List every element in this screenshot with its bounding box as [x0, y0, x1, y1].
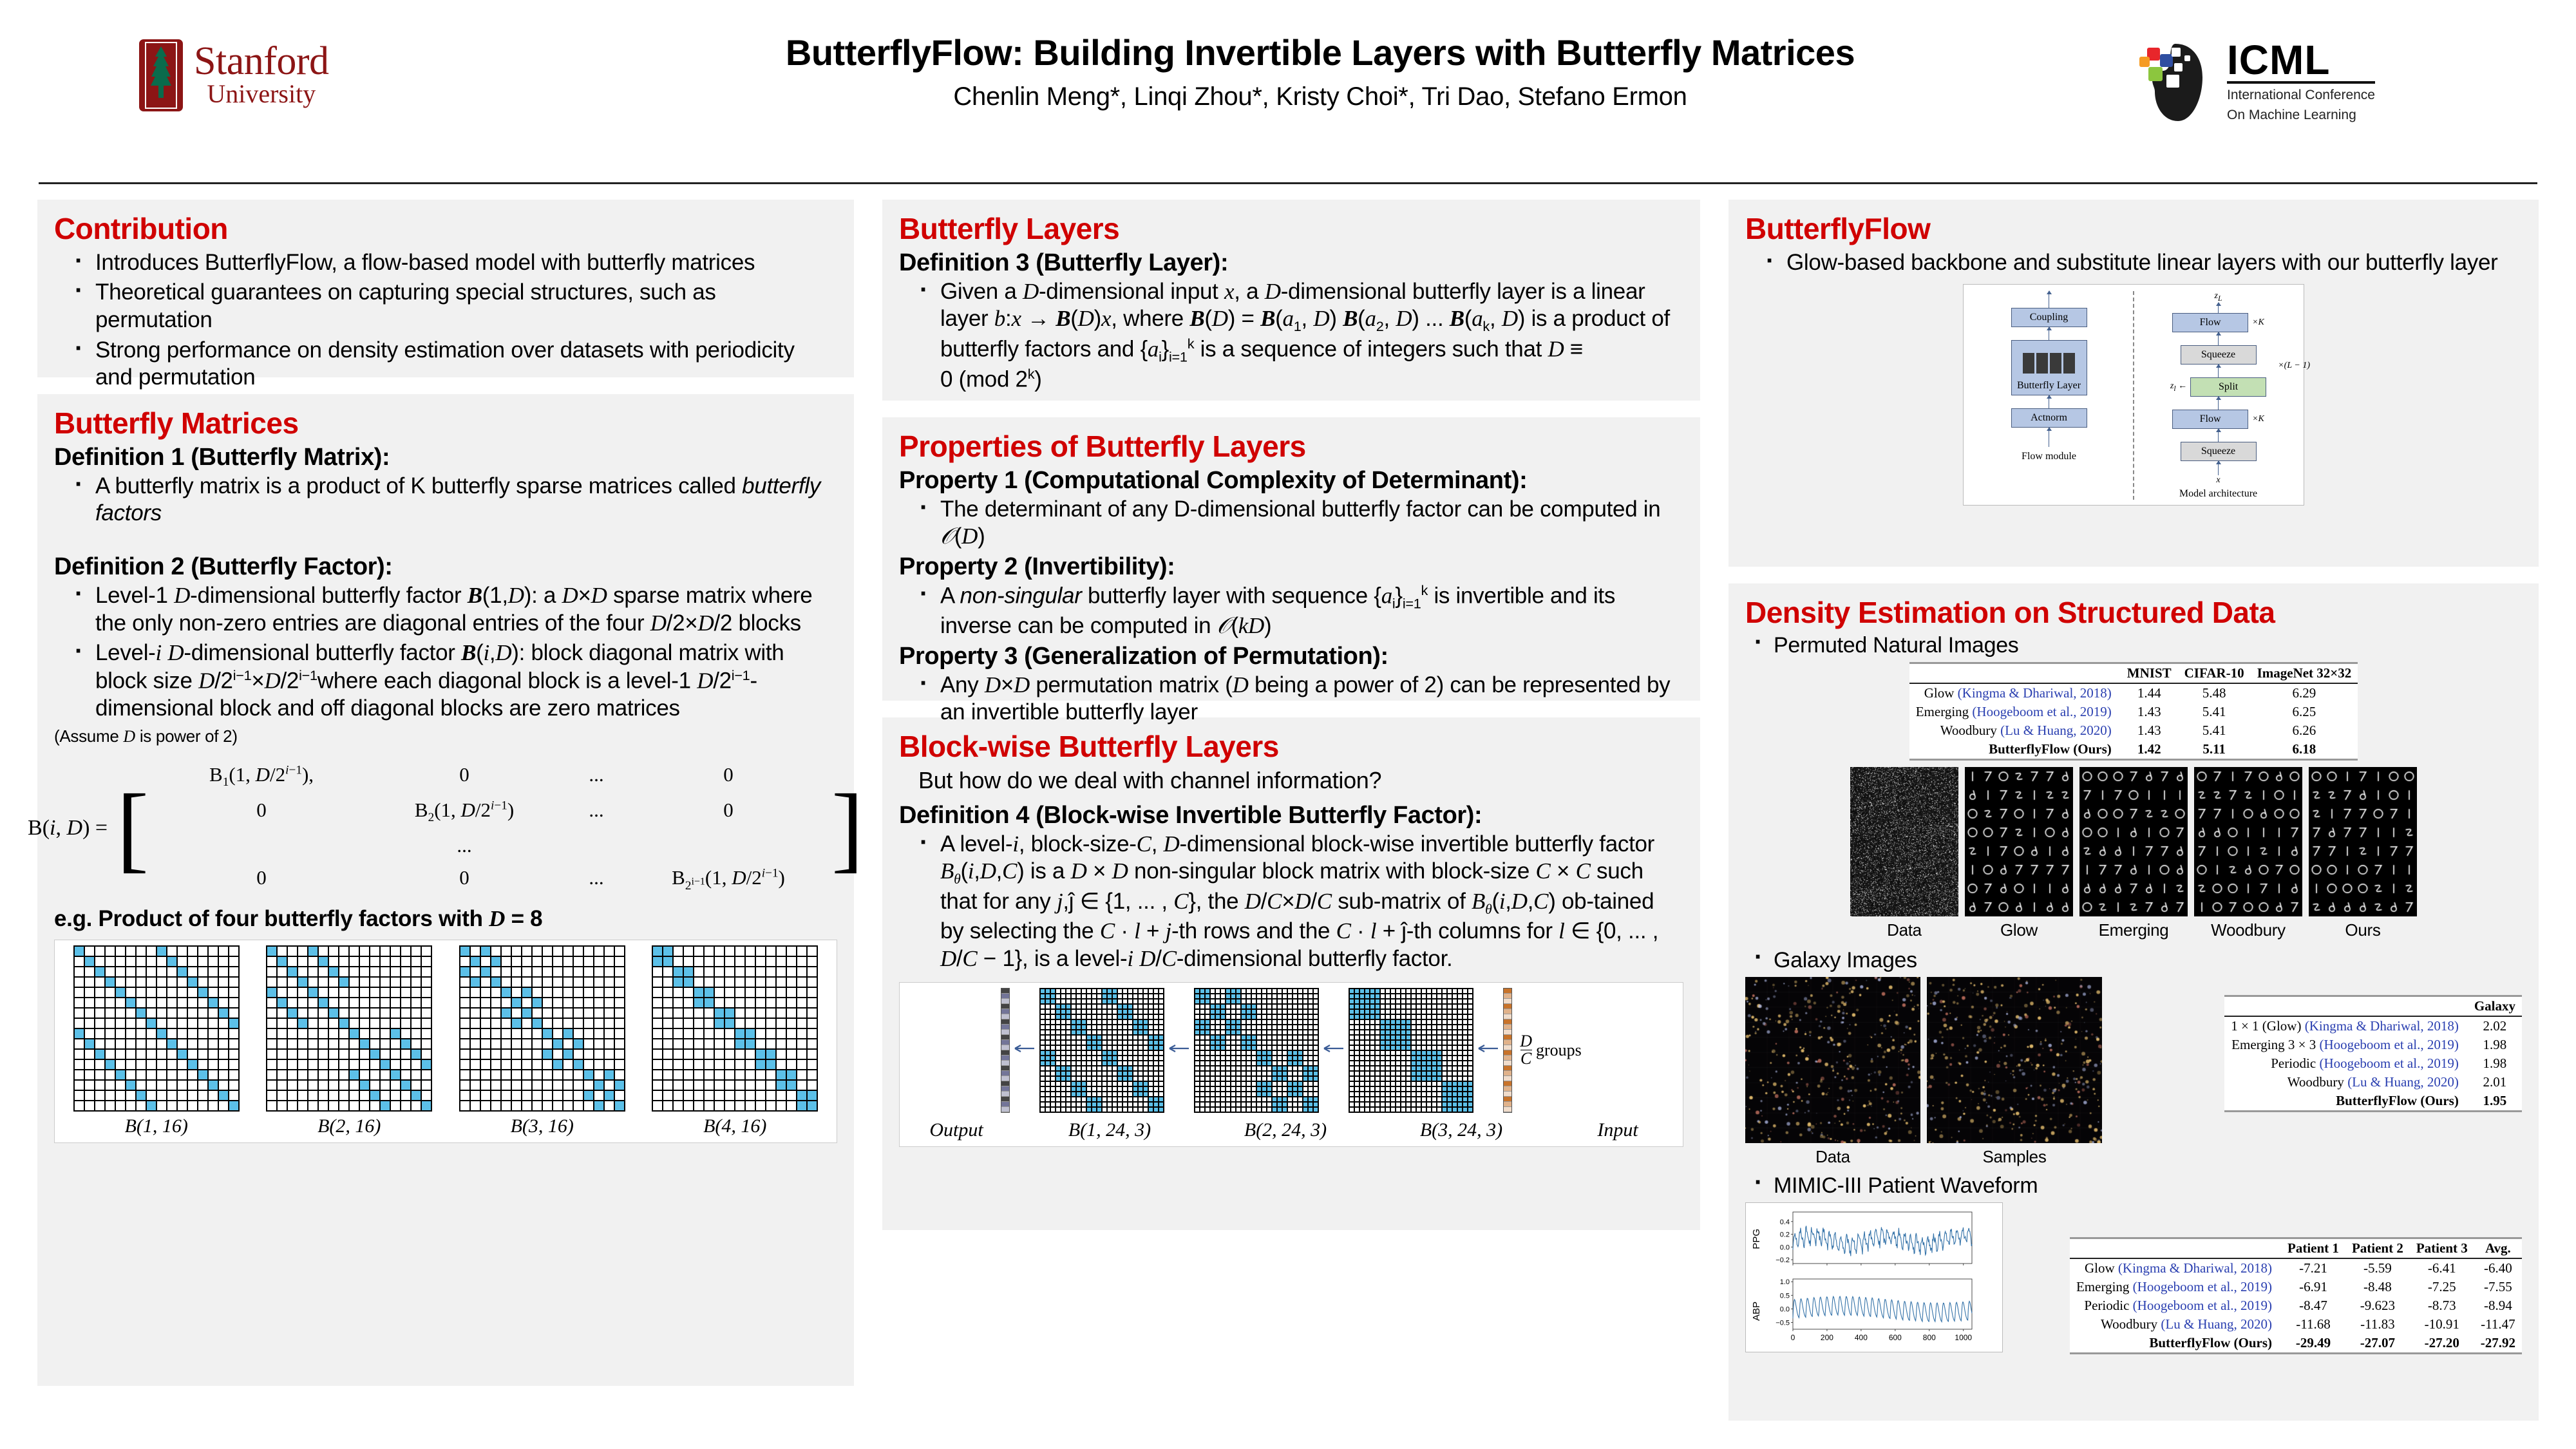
matrix-cell: [287, 946, 298, 956]
matrix-cell: [1045, 1097, 1050, 1102]
matrix-cell: [1061, 1030, 1066, 1035]
matrix-cell: [614, 1008, 625, 1018]
matrix-cell: [198, 1070, 208, 1080]
matrix-cell: [84, 956, 95, 967]
matrix-cell: [1432, 989, 1437, 994]
matrix-cell: [318, 998, 328, 1008]
matrix-cell: [298, 1080, 308, 1090]
matrix-cell: [1210, 1056, 1215, 1061]
matrix-cell: [1354, 1014, 1359, 1019]
matrix-cell: [1081, 1102, 1086, 1107]
matrix-cell: [1148, 1035, 1153, 1040]
matrix-cell: [1401, 1050, 1406, 1056]
matrix-cell: [1421, 1102, 1426, 1107]
matrix-cell: [652, 977, 663, 987]
matrix-cell: [1282, 1004, 1287, 1009]
definition-4-bullets: A level-i, block-size-C, D-dimensional b…: [911, 831, 1683, 973]
matrix-cell: [542, 1039, 553, 1049]
matrix-cell: [1066, 1030, 1071, 1035]
matrix-cell: [339, 1018, 349, 1028]
matrix-cell: [1200, 1081, 1205, 1086]
matrix-cell: [1056, 1014, 1061, 1019]
matrix-cell: [1092, 1071, 1097, 1076]
matrix-cell: [460, 1070, 470, 1080]
matrix-cell: [208, 967, 218, 977]
matrix-cell: [308, 946, 318, 956]
matrix-cell: [1159, 994, 1164, 999]
matrix-cell: [1143, 1066, 1148, 1071]
matrix-cell: [694, 1059, 704, 1070]
matrix-cell: [1159, 1050, 1164, 1056]
matrix-cell: [1133, 1014, 1138, 1019]
matrix-cell: [673, 1070, 683, 1080]
matrix-cell: [1293, 1076, 1298, 1081]
matrix-cell: [1246, 1066, 1251, 1071]
matrix-cell: [1210, 1097, 1215, 1102]
matrix-cell: [1236, 1076, 1241, 1081]
matrix-cell: [1205, 1102, 1210, 1107]
matrix-cell: [1287, 999, 1293, 1004]
matrix-cell: [583, 1090, 594, 1101]
matrix-cell: [797, 956, 807, 967]
matrix-cell: [673, 1080, 683, 1090]
matrix-cell: [229, 1039, 239, 1049]
matrix-cell: [1416, 1092, 1421, 1097]
matrix-cell: [318, 1008, 328, 1018]
table-cell-method: Emerging 3 × 3 (Hoogeboom et al., 2019): [2224, 1036, 2468, 1054]
matrix-cell: [1277, 999, 1282, 1004]
matrix-cell: [553, 1059, 563, 1070]
matrix-cell: [1128, 1035, 1133, 1040]
matrix-cell: [1303, 999, 1308, 1004]
matrix-cell: [683, 1101, 694, 1111]
matrix-cell: [126, 967, 136, 977]
matrix-cell: [1463, 989, 1468, 994]
blockwise-matrix-grid: [1349, 988, 1473, 1113]
matrix-cell: [287, 1028, 298, 1039]
matrix-cell: [1380, 999, 1385, 1004]
matrix-cell: [1411, 1092, 1416, 1097]
matrix-cells: B1(1, D/2i−1), 0 ... 0 0 B2(1, D/2i−1) .…: [149, 761, 831, 896]
matrix-cell: [208, 1059, 218, 1070]
matrix-cell: [1396, 1045, 1401, 1050]
matrix-cell: [542, 977, 553, 987]
matrix-cell: [1226, 1009, 1231, 1014]
matrix-cell: [1432, 1076, 1437, 1081]
matrix-cell: [1432, 1066, 1437, 1071]
matrix-cell: [1148, 994, 1153, 999]
sample-image: [1927, 977, 2102, 1143]
matrix-cell: [1303, 1092, 1308, 1097]
matrix-cell: [501, 1070, 511, 1080]
matrix-cell: [1081, 1066, 1086, 1071]
matrix-cell: [1375, 999, 1380, 1004]
matrix-cell: [287, 1039, 298, 1049]
matrix-cell: [1241, 1102, 1246, 1107]
matrix-cell: [1236, 1102, 1241, 1107]
matrix-cell: [1153, 1061, 1159, 1066]
matrix-cell: [349, 977, 359, 987]
matrix-cell: [1076, 1081, 1081, 1086]
matrix-cell: [1457, 1025, 1463, 1030]
matrix-cell: [1112, 1092, 1117, 1097]
matrix-cell: [1442, 1086, 1447, 1092]
matrix-cell: [1354, 1092, 1359, 1097]
matrix-cell: [229, 1049, 239, 1059]
model-architecture-caption: Model architecture: [2179, 488, 2257, 500]
matrix-cell: [1354, 1107, 1359, 1112]
matrix-cell: [1406, 1071, 1411, 1076]
matrix-cell: [1293, 1081, 1298, 1086]
matrix-cell: [1066, 1009, 1071, 1014]
matrix-cell: [704, 1059, 714, 1070]
matrix-cell: [1262, 1097, 1267, 1102]
matrix-cell: [401, 1090, 411, 1101]
table-cell-value: -11.47: [2474, 1315, 2522, 1334]
matrix-cell: [1282, 1071, 1287, 1076]
matrix-cell: [105, 956, 115, 967]
matrix-cell: [1050, 1056, 1056, 1061]
matrix-cell: [553, 1028, 563, 1039]
matrix-cell: [573, 1049, 583, 1059]
matrix-cell: [1148, 1045, 1153, 1050]
matrix-cell: [198, 1008, 208, 1018]
matrix-cell: [1133, 989, 1138, 994]
matrix-cell: [745, 1070, 755, 1080]
matrix-cell: [1401, 1061, 1406, 1066]
matrix-cell: [1442, 1004, 1447, 1009]
matrix-cell: [1390, 1014, 1396, 1019]
matrix-cell: [511, 1090, 522, 1101]
table-cell-value: 5.11: [2178, 740, 2251, 760]
matrix-cell: [298, 1101, 308, 1111]
matrix-cell: [1463, 1071, 1468, 1076]
matrix-cell: [1442, 1045, 1447, 1050]
matrix-cell: [714, 1028, 724, 1039]
matrix-cell: [1313, 1102, 1318, 1107]
matrix-cell: [287, 1101, 298, 1111]
matrix-cell: [339, 1049, 349, 1059]
matrix-cell: [1195, 1035, 1200, 1040]
matrix-cell: [1437, 1004, 1442, 1009]
matrix-cell: [328, 1070, 339, 1080]
matrix-cell: [1452, 1097, 1457, 1102]
matrix-cell: [1256, 1081, 1262, 1086]
matrix-cell: [470, 1070, 480, 1080]
matrix-cell: [1045, 1019, 1050, 1025]
matrix-cell: [704, 987, 714, 998]
matrix-cell: [1205, 1097, 1210, 1102]
matrix-cell: [776, 998, 786, 1008]
matrix-cell: [187, 1039, 198, 1049]
sample-panel: Glow: [1965, 767, 2073, 940]
matrix-cell: [583, 1008, 594, 1018]
matrix-cell: [1081, 1009, 1086, 1014]
matrix-cell: [694, 1090, 704, 1101]
galaxy-samples-row: DataSamples: [1745, 977, 2102, 1167]
matrix-cell: [1452, 1045, 1457, 1050]
matrix-cell: [1231, 989, 1236, 994]
matrix-cell: [370, 1080, 380, 1090]
matrix-cell: [115, 998, 126, 1008]
matrix-cell: [491, 998, 501, 1008]
matrix-cell: [460, 946, 470, 956]
matrix-cell: [1452, 1019, 1457, 1025]
matrix-cell: [1349, 1014, 1354, 1019]
matrix-cell: [208, 1101, 218, 1111]
matrix-cell: [460, 998, 470, 1008]
matrix-cell: [1256, 1014, 1262, 1019]
matrix-cell: [714, 967, 724, 977]
matrix-cell: [229, 1028, 239, 1039]
matrix-cell: [604, 1028, 614, 1039]
matrix-cell: [1416, 1004, 1421, 1009]
matrix-cell: [522, 1080, 532, 1090]
matrix-cell: [187, 946, 198, 956]
matrix-cell: [74, 956, 84, 967]
matrix-cell: [1148, 1061, 1153, 1066]
matrix-cell: [328, 1018, 339, 1028]
matrix-cell: B2i−1(1, D/2i−1): [632, 866, 825, 893]
matrix-cell: [156, 967, 167, 977]
matrix-cell: [1277, 1061, 1282, 1066]
matrix-cell: [1148, 1009, 1153, 1014]
block-squeeze-top: Squeeze: [2181, 345, 2257, 365]
matrix-cell: [218, 1008, 229, 1018]
matrix-cell: [604, 977, 614, 987]
matrix-cell: [1107, 1025, 1112, 1030]
matrix-cell: [1262, 1066, 1267, 1071]
matrix-cell: [318, 1090, 328, 1101]
matrix-cell: [1215, 1097, 1220, 1102]
matrix-cell: [267, 956, 277, 967]
matrix-cell: [786, 1059, 797, 1070]
matrix-cell: [1056, 1092, 1061, 1097]
matrix-cell: [663, 1008, 673, 1018]
matrix-cell: [1421, 1086, 1426, 1092]
matrix-cell: [1200, 1040, 1205, 1045]
matrix-cell: [1282, 1019, 1287, 1025]
matrix-cell: [573, 1080, 583, 1090]
matrix-cell: [542, 967, 553, 977]
matrix-cell: [1463, 1004, 1468, 1009]
matrix-cell: [1370, 1004, 1375, 1009]
matrix-cell: [1066, 1035, 1071, 1040]
arrow-up-icon: [2049, 327, 2049, 340]
matrix-cell: [1061, 1066, 1066, 1071]
matrix-cell: [1122, 1081, 1128, 1086]
matrix-cell: [1061, 1004, 1066, 1009]
matrix-cell: [359, 1049, 370, 1059]
matrix-cell: [370, 1008, 380, 1018]
matrix-cell: [156, 998, 167, 1008]
matrix-cell: [218, 956, 229, 967]
matrix-cell: [136, 1039, 146, 1049]
matrix-cell: [1153, 1097, 1159, 1102]
matrix-cell: [1133, 1009, 1138, 1014]
matrix-cell: [1457, 1061, 1463, 1066]
matrix-cell: [421, 977, 431, 987]
matrix-cell: [1236, 1086, 1241, 1092]
matrix-cell: [1143, 1045, 1148, 1050]
matrix-cell: [1045, 1076, 1050, 1081]
matrix-cell: [1293, 1061, 1298, 1066]
matrix-cell: [1056, 1081, 1061, 1086]
matrix-cell: [1447, 1107, 1452, 1112]
matrix-cell: [594, 956, 604, 967]
matrix-cell: [1071, 1076, 1076, 1081]
matrix-cell: [229, 956, 239, 967]
y-tick-label: 1.0: [1780, 1278, 1790, 1286]
matrix-cell: [1153, 1030, 1159, 1035]
matrix-cell: [1365, 1102, 1370, 1107]
matrix-cell: [1277, 1071, 1282, 1076]
butterfly-factor-panel: [446, 945, 639, 1112]
matrix-cell: [1195, 1076, 1200, 1081]
matrix-cell: [1349, 1035, 1354, 1040]
matrix-cell: [594, 1028, 604, 1039]
matrix-cell: [287, 998, 298, 1008]
matrix-cell: [156, 977, 167, 987]
matrix-cell: [1231, 1061, 1236, 1066]
matrix-cell: [187, 1080, 198, 1090]
matrix-cell: [694, 977, 704, 987]
matrix-cell: [1396, 1086, 1401, 1092]
matrix-cell: [1050, 1066, 1056, 1071]
matrix-cell: [1061, 1102, 1066, 1107]
matrix-cell: [267, 998, 277, 1008]
matrix-cell: [328, 1028, 339, 1039]
matrix-cell: [298, 967, 308, 977]
matrix-cell: [1148, 989, 1153, 994]
matrix-cell: [1390, 1086, 1396, 1092]
matrix-cell: [1081, 999, 1086, 1004]
matrix-cell: [1138, 1045, 1143, 1050]
matrix-cell: [1107, 994, 1112, 999]
matrix-cell: [1267, 994, 1272, 999]
block-split: Split: [2190, 377, 2266, 397]
matrix-cell: [1056, 1107, 1061, 1112]
matrix-cell: [328, 956, 339, 967]
matrix-cell: [663, 956, 673, 967]
matrix-cell: [1102, 999, 1107, 1004]
matrix-cell: [1117, 994, 1122, 999]
matrix-cell: [1112, 1014, 1117, 1019]
matrix-cell: [1117, 1050, 1122, 1056]
matrix-cell: [1365, 1035, 1370, 1040]
matrix-cell: [786, 1028, 797, 1039]
matrix-cell: [491, 1008, 501, 1018]
arrow-up-icon: [2218, 397, 2219, 410]
matrix-cell: [1401, 1030, 1406, 1035]
blockwise-heading: Block-wise Butterfly Layers: [899, 730, 1683, 763]
matrix-cell: [1303, 1030, 1308, 1035]
matrix-cell: [1086, 1076, 1092, 1081]
matrix-cell: [1463, 1092, 1468, 1097]
table-cell-value: 6.25: [2251, 703, 2358, 721]
matrix-cell: [84, 1101, 95, 1111]
matrix-cell: [380, 1049, 390, 1059]
matrix-cell: [1452, 1107, 1457, 1112]
matrix-cell: [532, 956, 542, 967]
matrix-cell: [1220, 1081, 1226, 1086]
matrix-cell: [1066, 1056, 1071, 1061]
matrix-cell: [1205, 989, 1210, 994]
matrix-cell: [1226, 1097, 1231, 1102]
matrix-cell: [1426, 1025, 1432, 1030]
matrix-cell: [1406, 1014, 1411, 1019]
matrix-cell: [1061, 1009, 1066, 1014]
architecture-inner: Coupling Butterfly Layer Actnorm: [1969, 291, 2298, 500]
matrix-cell: [1081, 994, 1086, 999]
matrix-cell: [1447, 1035, 1452, 1040]
matrix-cell: [714, 1070, 724, 1080]
matrix-cell: [1241, 1056, 1246, 1061]
matrix-cell: [1447, 1056, 1452, 1061]
matrix-cell: [470, 946, 480, 956]
matrix-cell: [74, 1080, 84, 1090]
matrix-cell: [663, 1101, 673, 1111]
matrix-cell: [714, 1059, 724, 1070]
matrix-cell: [1380, 1014, 1385, 1019]
matrix-cell: [1066, 994, 1071, 999]
matrix-cell: [1406, 1040, 1411, 1045]
table-cell-value: -5.59: [2345, 1258, 2410, 1278]
matrix-cell: [1452, 1086, 1457, 1092]
galaxy-results-table: Galaxy1 × 1 (Glow) (Kingma & Dhariwal, 2…: [2224, 995, 2522, 1112]
matrix-cell: [277, 977, 287, 987]
matrix-cell: [167, 977, 177, 987]
matrix-cell: [1267, 1035, 1272, 1040]
matrix-cell: [1293, 1019, 1298, 1025]
matrix-cell: [1040, 1050, 1045, 1056]
stanford-name: Stanford: [194, 43, 329, 80]
matrix-cell: [1153, 1102, 1159, 1107]
matrix-cell: [421, 1039, 431, 1049]
matrix-cell: [1293, 1040, 1298, 1045]
matrix-cell: [614, 1101, 625, 1111]
matrix-cell: [766, 1090, 776, 1101]
matrix-cell: [1308, 1076, 1313, 1081]
matrix-cell: [177, 946, 187, 956]
matrix-cell: [1205, 1076, 1210, 1081]
matrix-cell: [1390, 1040, 1396, 1045]
matrix-cell: [755, 987, 766, 998]
matrix-cell: [1452, 1040, 1457, 1045]
matrix-cell: [1308, 1025, 1313, 1030]
matrix-cell: [786, 1039, 797, 1049]
matrix-cell: [1205, 999, 1210, 1004]
blockwise-matrix-grid: [1039, 988, 1164, 1113]
matrix-cell: [683, 1090, 694, 1101]
matrix-cell: [1359, 1071, 1365, 1076]
matrix-cell: [1138, 1014, 1143, 1019]
matrix-cell: [745, 1039, 755, 1049]
matrix-cell: [1066, 1076, 1071, 1081]
matrix-cell: [1236, 1040, 1241, 1045]
matrix-cell: [1396, 1097, 1401, 1102]
matrix-cell: [1375, 1066, 1380, 1071]
matrix-cell: [1432, 1030, 1437, 1035]
property-2-bullets: A non-singular butterfly layer with sequ…: [911, 582, 1683, 640]
matrix-cell: [1153, 1004, 1159, 1009]
matrix-cell: [1195, 1045, 1200, 1050]
matrix-cell: [1432, 1081, 1437, 1086]
matrix-cell: [553, 967, 563, 977]
matrix-cell: [563, 1008, 573, 1018]
list-item: Level-i D-dimensional butterfly factor B…: [66, 639, 837, 723]
matrix-cell: [652, 1049, 663, 1059]
